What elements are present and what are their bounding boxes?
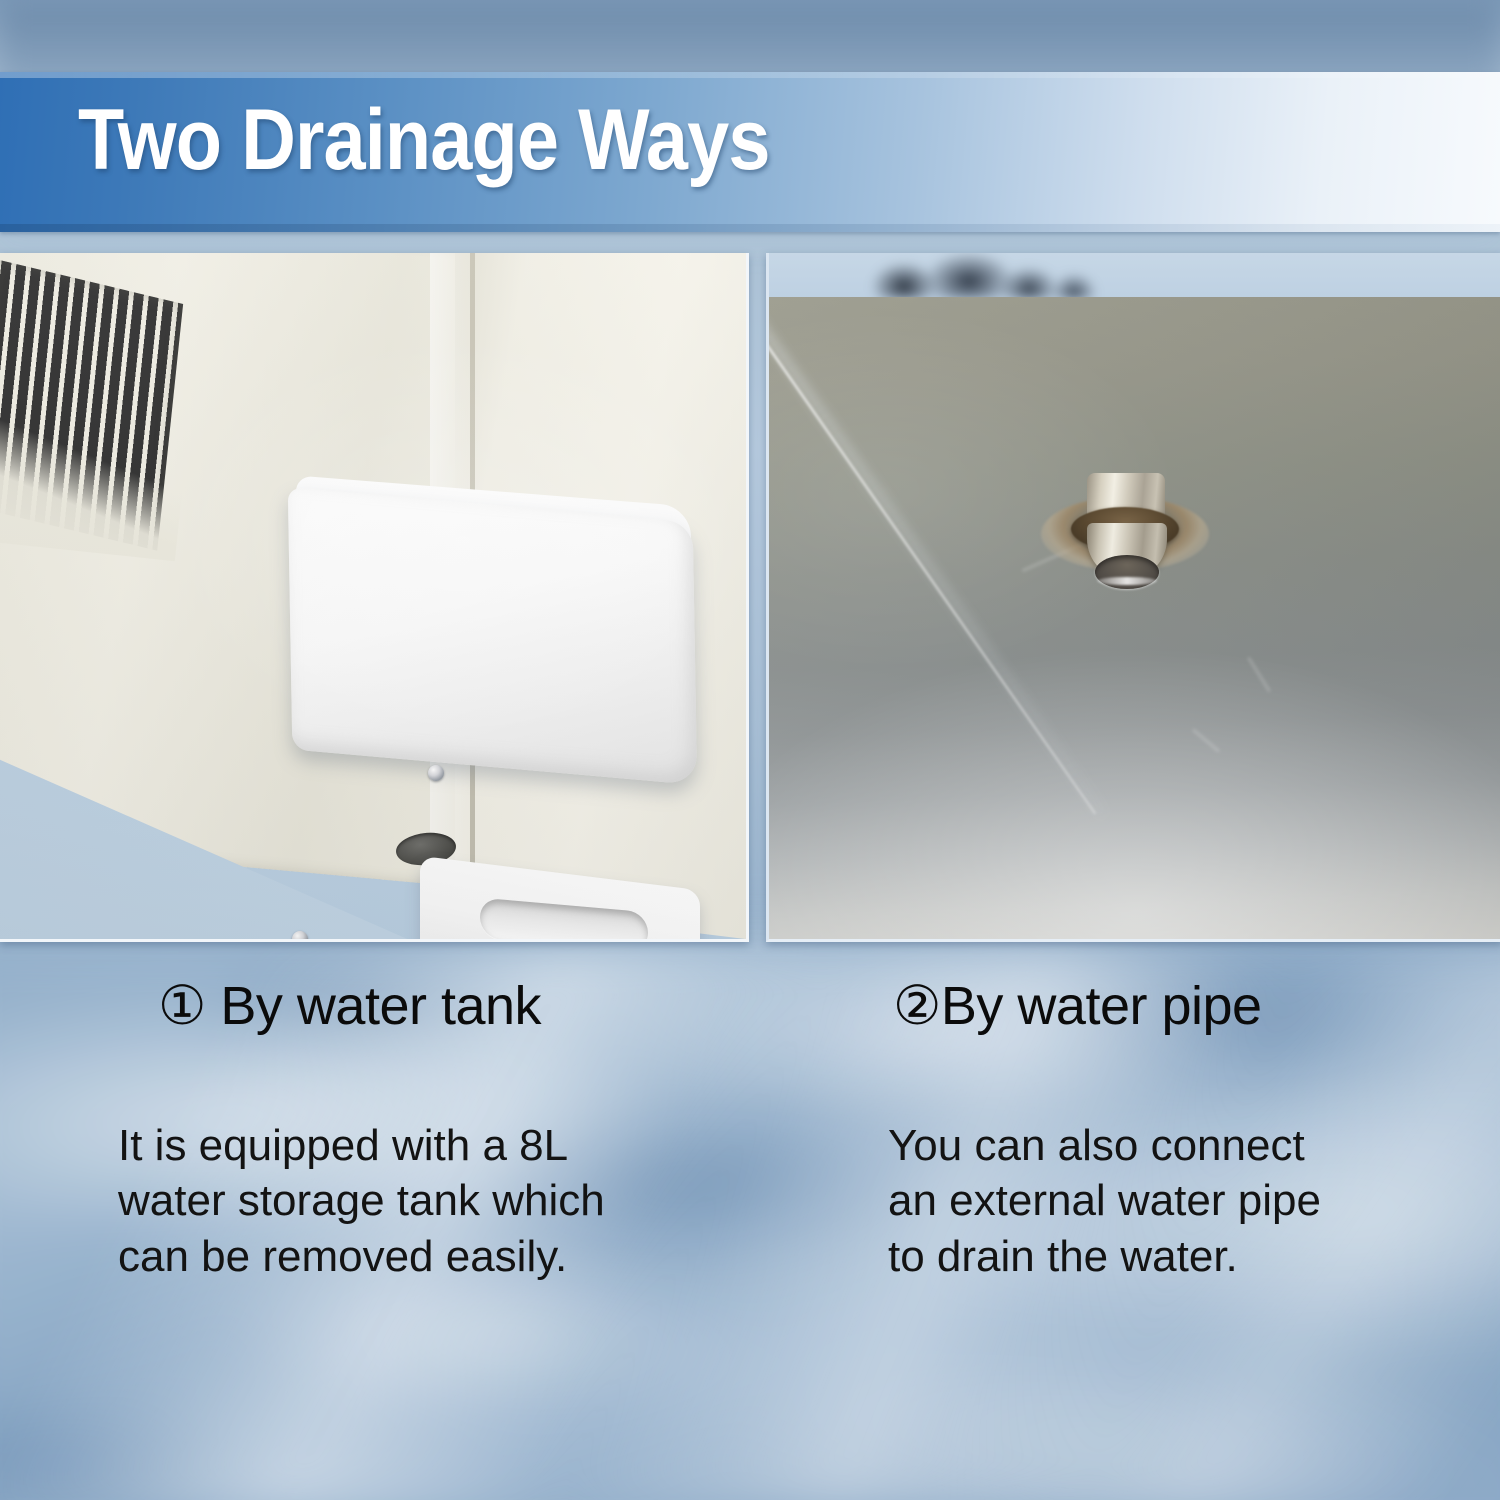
drain-port-lip-highlight (1097, 577, 1157, 585)
screw-icon (428, 765, 444, 781)
blurred-foliage (859, 253, 1109, 299)
drain-port-outlet (1035, 467, 1215, 599)
infographic-page: Two Drainage Ways (0, 0, 1500, 1500)
caption-body-water-pipe: You can also connect an external water p… (888, 1118, 1500, 1284)
caption-heading-water-tank: ① By water tank (158, 974, 541, 1037)
water-tank-body (288, 487, 698, 785)
page-title: Two Drainage Ways (78, 94, 770, 187)
vent-grille-fade-mask (0, 261, 204, 561)
caption-body-water-tank: It is equipped with a 8L water storage t… (118, 1118, 758, 1284)
screw-icon (292, 931, 308, 942)
title-banner: Two Drainage Ways (0, 72, 1500, 232)
photo-water-pipe (766, 253, 1500, 942)
photo-water-tank (0, 253, 749, 942)
caption-heading-water-pipe: ②By water pipe (893, 974, 1262, 1037)
metal-sheen-overlay (769, 297, 1500, 939)
